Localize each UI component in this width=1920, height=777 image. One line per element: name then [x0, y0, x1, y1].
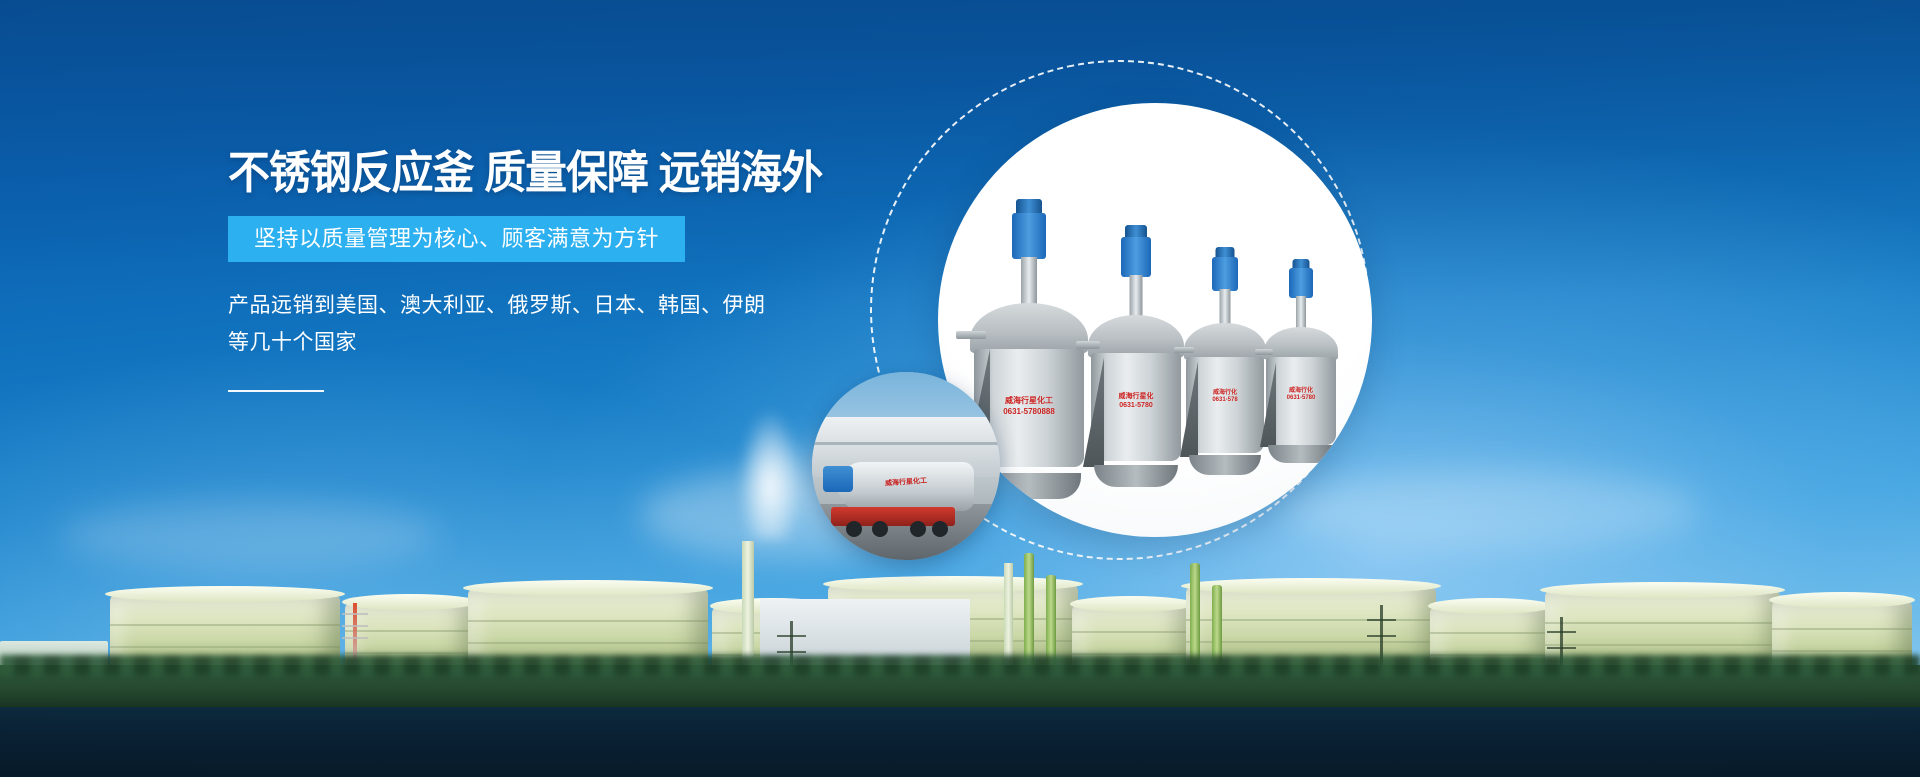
- vessel-dome: [970, 303, 1088, 355]
- side-nozzle: [1255, 349, 1273, 355]
- drive-motor: [1012, 213, 1046, 259]
- drive-shaft: [1296, 296, 1306, 330]
- product-photo-circle: 威海行星化工 0631-5780888 威海行星化 0631-5780 威海行化: [938, 103, 1372, 537]
- side-nozzle: [956, 331, 986, 339]
- vessel-base: [1189, 455, 1261, 475]
- vessel-body: [1266, 357, 1336, 445]
- secondary-photo-circle: 威海行星化工: [812, 372, 1000, 560]
- tagline-badge: 坚持以质量管理为核心、顾客满意为方针: [228, 216, 685, 262]
- reactor-vessel: 威海行化 0631-578: [1184, 247, 1266, 475]
- vessel-base: [1094, 465, 1178, 487]
- drive-motor: [1121, 237, 1151, 277]
- vessel-brand-label: 威海行星化工: [1005, 395, 1053, 406]
- tower-arm: [342, 637, 368, 639]
- description-line-2: 等几十个国家: [228, 325, 928, 362]
- vessel-dome: [1264, 327, 1338, 361]
- vessel-phone-label: 0631-5780: [1287, 395, 1316, 401]
- side-nozzle: [1076, 341, 1100, 349]
- photo-motor-head: [823, 466, 853, 492]
- tower-arm: [342, 613, 368, 615]
- vessel-phone-label: 0631-5780: [1119, 402, 1152, 409]
- drive-motor: [1212, 257, 1238, 291]
- side-nozzle: [1174, 347, 1194, 353]
- drive-motor: [1289, 268, 1313, 298]
- vessel-base: [1268, 445, 1333, 463]
- drive-shaft: [1130, 275, 1143, 319]
- vessel-dome: [1184, 323, 1266, 361]
- reactor-vessel: 威海行化 0631-5780: [1264, 259, 1338, 463]
- vessel-brand-label: 威海行化: [1213, 387, 1237, 396]
- vessel-brand-label: 威海行化: [1289, 385, 1313, 394]
- industrial-skyline: [0, 532, 1920, 777]
- description-line-1: 产品远销到美国、澳大利亚、俄罗斯、日本、韩国、伊朗: [228, 288, 928, 325]
- banner-copy: 不锈钢反应釜 质量保障 远销海外 坚持以质量管理为核心、顾客满意为方针 产品远销…: [228, 150, 928, 392]
- vessel-phone-label: 0631-578: [1212, 397, 1237, 403]
- drive-shaft: [1021, 257, 1037, 309]
- vessel-phone-label: 0631-5780888: [1003, 407, 1055, 416]
- drive-shaft: [1220, 289, 1231, 327]
- tower-arm: [342, 625, 368, 627]
- tree-line: [0, 665, 1920, 711]
- divider-rule: [228, 390, 324, 392]
- hero-banner: 威海行星化工 0631-5780888 威海行星化 0631-5780 威海行化: [0, 0, 1920, 777]
- water: [0, 707, 1920, 777]
- page-title: 不锈钢反应釜 质量保障 远销海外: [228, 150, 879, 195]
- vessel-brand-label: 威海行星化: [1119, 391, 1154, 401]
- reactor-vessel: 威海行星化 0631-5780: [1088, 225, 1184, 487]
